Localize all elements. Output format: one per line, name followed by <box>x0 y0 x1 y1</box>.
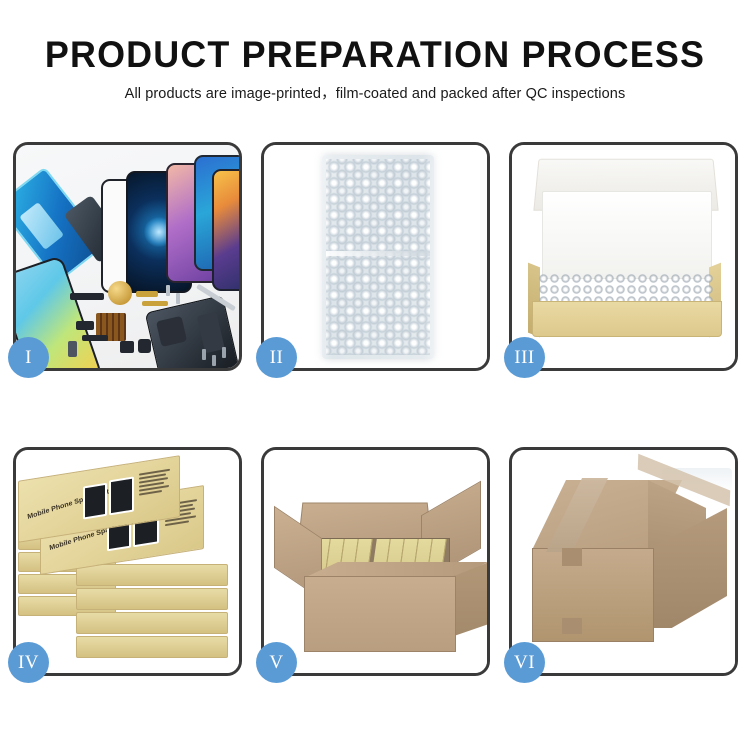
ribbon-cable-icon <box>82 335 108 341</box>
step-badge-6: VI <box>504 642 545 683</box>
screw-icon <box>176 293 180 304</box>
page-subtitle: All products are image-printed，film-coat… <box>0 85 750 103</box>
step-badge-1: I <box>8 337 49 378</box>
step-panel-1: I <box>13 142 242 371</box>
box-front-panel <box>532 301 722 337</box>
step-badge-4: IV <box>8 642 49 683</box>
phone-gradient-display-icon <box>212 169 239 291</box>
camera-module-icon <box>76 321 94 330</box>
sim-tray-icon <box>68 341 77 357</box>
screw-icon <box>166 285 170 296</box>
screw-icon <box>202 349 206 360</box>
step-badge-5: V <box>256 642 297 683</box>
step-badge-2: II <box>256 337 297 378</box>
gold-connector-icon <box>136 291 158 297</box>
photo-product-parts <box>16 145 239 368</box>
photo-highlight <box>308 149 448 365</box>
button-part-icon <box>138 339 151 353</box>
foam-sheet-icon <box>542 191 712 279</box>
box-edge <box>76 588 228 610</box>
box-stack: Mobile Phone Spare Parts Mobile Phone Sp… <box>16 456 239 670</box>
photo-carton-sealed <box>512 450 735 673</box>
carton-tab <box>562 548 582 566</box>
screen-photo-icon <box>109 476 134 515</box>
photo-bubble-wrap <box>264 145 487 368</box>
step-panel-5: V <box>261 447 490 676</box>
step-badge-3: III <box>504 337 545 378</box>
photo-boxes-stacked: Mobile Phone Spare Parts Mobile Phone Sp… <box>16 450 239 673</box>
step-panel-3: III <box>509 142 738 371</box>
screen-photo-icon <box>83 483 107 520</box>
box-edge <box>76 564 228 586</box>
box-spec-lines <box>139 468 173 495</box>
screw-icon <box>222 347 226 358</box>
photo-inner-box-foam <box>512 145 735 368</box>
speaker-icon <box>120 341 134 353</box>
step-panel-6: VI <box>509 447 738 676</box>
header: PRODUCT PREPARATION PROCESS All products… <box>0 0 750 103</box>
process-steps-grid: I II III <box>13 142 737 676</box>
page-title: PRODUCT PREPARATION PROCESS <box>11 34 739 76</box>
carton-front-face <box>532 548 654 642</box>
screw-icon <box>212 355 216 366</box>
carton-front-face <box>304 576 456 652</box>
flex-cable-icon <box>70 293 104 300</box>
box-edge <box>76 636 228 658</box>
step-panel-2: II <box>261 142 490 371</box>
product-preparation-infographic: PRODUCT PREPARATION PROCESS All products… <box>0 0 750 750</box>
gold-connector-icon <box>142 301 168 306</box>
photo-carton-filled <box>264 450 487 673</box>
carton-tab <box>562 618 582 634</box>
box-edge <box>76 612 228 634</box>
vibration-motor-icon <box>108 281 132 305</box>
step-panel-4: Mobile Phone Spare Parts Mobile Phone Sp… <box>13 447 242 676</box>
